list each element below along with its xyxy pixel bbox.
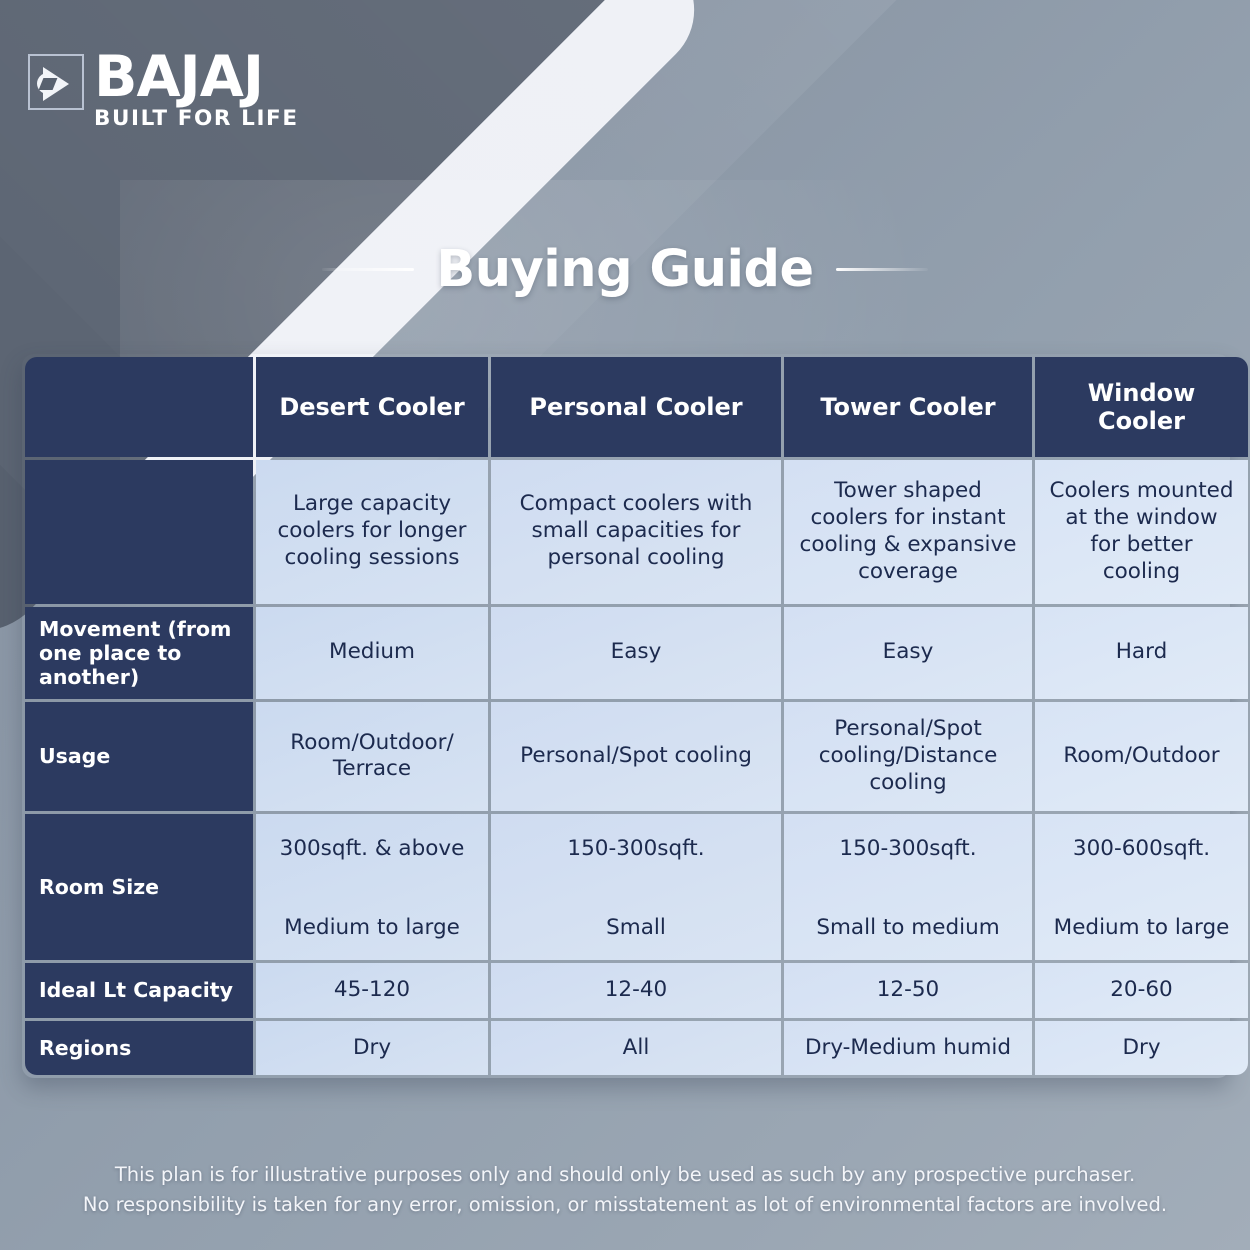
cell-room-size-personal-bottom: Small — [503, 915, 769, 942]
table-row-usage: Usage Room/Outdoor/ Terrace Personal/Spo… — [25, 702, 1248, 811]
cell-usage-personal: Personal/Spot cooling — [491, 702, 781, 811]
title-rule-right-icon — [836, 268, 928, 271]
brand-tagline: BUILT FOR LIFE — [94, 106, 299, 131]
brand-logo: BAJAJ BUILT FOR LIFE — [28, 50, 299, 131]
cell-usage-window: Room/Outdoor — [1035, 702, 1248, 811]
header-cell-desert: Desert Cooler — [256, 357, 488, 457]
cell-room-size-window-top: 300-600sqft. — [1047, 836, 1236, 863]
table-row-regions: Regions Dry All Dry-Medium humid Dry — [25, 1021, 1248, 1076]
cell-description-tower: Tower shaped coolers for instant cooling… — [784, 460, 1032, 604]
cell-room-size-window: 300-600sqft. Medium to large — [1035, 814, 1248, 960]
bajaj-arrow-icon — [28, 54, 84, 110]
disclaimer: This plan is for illustrative purposes o… — [0, 1160, 1250, 1220]
table-header-row: Desert Cooler Personal Cooler Tower Cool… — [25, 357, 1248, 457]
cell-movement-personal: Easy — [491, 607, 781, 700]
header-cell-blank — [25, 357, 253, 457]
table-row-description: Large capacity coolers for longer coolin… — [25, 460, 1248, 604]
cell-capacity-desert: 45-120 — [256, 963, 488, 1018]
cell-room-size-window-bottom: Medium to large — [1047, 915, 1236, 942]
cell-room-size-desert-top: 300sqft. & above — [268, 836, 476, 863]
poster-canvas: BAJAJ BUILT FOR LIFE Buying Guide Desert… — [0, 0, 1250, 1250]
header-cell-window: Window Cooler — [1035, 357, 1248, 457]
cell-room-size-tower: 150-300sqft. Small to medium — [784, 814, 1032, 960]
cell-usage-tower: Personal/Spot cooling/Distance cooling — [784, 702, 1032, 811]
row-label-usage: Usage — [25, 702, 253, 811]
cell-usage-desert: Room/Outdoor/ Terrace — [256, 702, 488, 811]
cell-capacity-window: 20-60 — [1035, 963, 1248, 1018]
table-row-movement: Movement (from one place to another) Med… — [25, 607, 1248, 700]
cell-room-size-tower-top: 150-300sqft. — [796, 836, 1020, 863]
cell-room-size-desert-bottom: Medium to large — [268, 915, 476, 942]
disclaimer-line-2: No responsibility is taken for any error… — [0, 1190, 1250, 1220]
cell-regions-window: Dry — [1035, 1021, 1248, 1076]
comparison-table: Desert Cooler Personal Cooler Tower Cool… — [22, 354, 1250, 1078]
cell-capacity-tower: 12-50 — [784, 963, 1032, 1018]
table-row-room-size: Room Size 300sqft. & above Medium to lar… — [25, 814, 1248, 960]
header-cell-tower: Tower Cooler — [784, 357, 1032, 457]
brand-name: BAJAJ — [94, 50, 299, 104]
row-label-capacity: Ideal Lt Capacity — [25, 963, 253, 1018]
cell-description-personal: Compact coolers with small capacities fo… — [491, 460, 781, 604]
page-title-row: Buying Guide — [0, 240, 1250, 299]
cell-regions-tower: Dry-Medium humid — [784, 1021, 1032, 1076]
cell-description-desert: Large capacity coolers for longer coolin… — [256, 460, 488, 604]
row-label-room-size: Room Size — [25, 814, 253, 960]
title-rule-left-icon — [322, 268, 414, 271]
header-cell-personal: Personal Cooler — [491, 357, 781, 457]
disclaimer-line-1: This plan is for illustrative purposes o… — [0, 1160, 1250, 1190]
cell-movement-desert: Medium — [256, 607, 488, 700]
cell-room-size-desert: 300sqft. & above Medium to large — [256, 814, 488, 960]
cell-description-window: Coolers mounted at the window for better… — [1035, 460, 1248, 604]
cell-movement-tower: Easy — [784, 607, 1032, 700]
page-title: Buying Guide — [436, 240, 813, 299]
row-label-movement: Movement (from one place to another) — [25, 607, 253, 700]
cell-room-size-personal-top: 150-300sqft. — [503, 836, 769, 863]
cell-movement-window: Hard — [1035, 607, 1248, 700]
table-row-capacity: Ideal Lt Capacity 45-120 12-40 12-50 20-… — [25, 963, 1248, 1018]
cell-regions-personal: All — [491, 1021, 781, 1076]
cell-regions-desert: Dry — [256, 1021, 488, 1076]
row-label-description — [25, 460, 253, 604]
brand-logo-text: BAJAJ BUILT FOR LIFE — [94, 50, 299, 131]
cell-capacity-personal: 12-40 — [491, 963, 781, 1018]
cell-room-size-personal: 150-300sqft. Small — [491, 814, 781, 960]
row-label-regions: Regions — [25, 1021, 253, 1076]
comparison-table-wrapper: Desert Cooler Personal Cooler Tower Cool… — [22, 354, 1230, 1078]
cell-room-size-tower-bottom: Small to medium — [796, 915, 1020, 942]
